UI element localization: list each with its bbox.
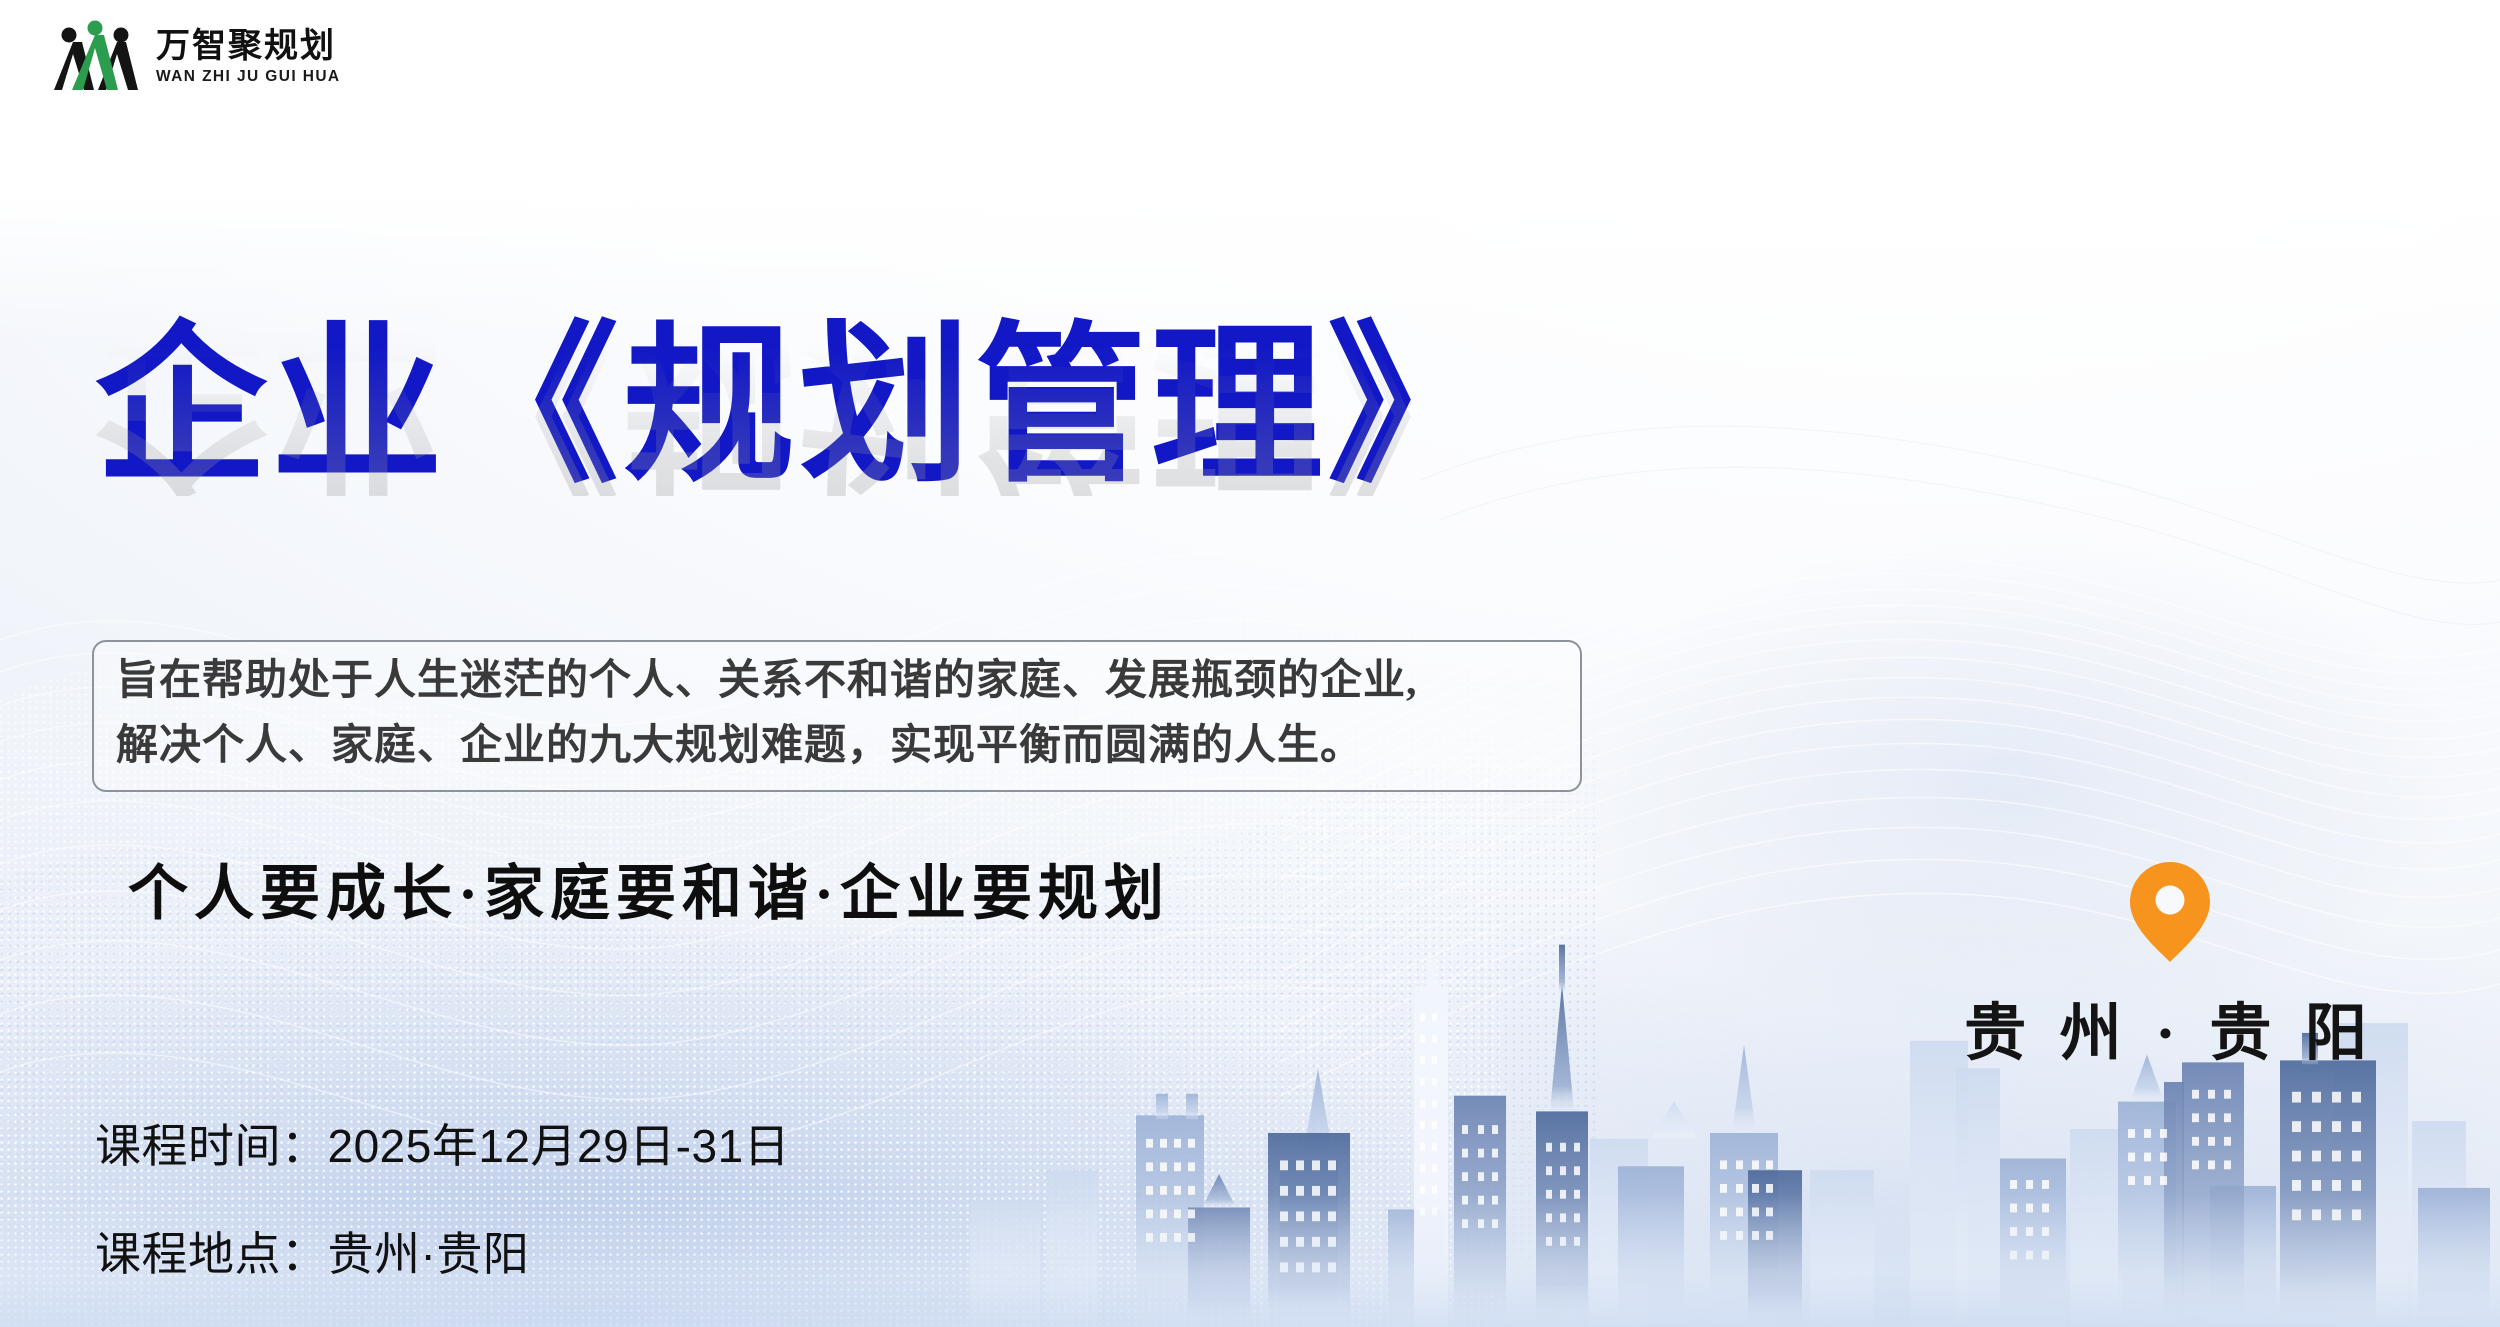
three-people-logo-icon (52, 18, 138, 96)
description-box: 旨在帮助处于人生迷茫的个人、关系不和谐的家庭、发展瓶颈的企业, 解决个人、家庭、… (92, 640, 1582, 792)
brand-name-en: WAN ZHI JU GUI HUA (156, 68, 341, 86)
brand-name-cn: 万智聚规划 (156, 28, 341, 65)
map-pin-icon (2126, 860, 2214, 964)
location-badge: 贵 州 · 贵 阳 (1960, 860, 2380, 1072)
hero-title-block: 企业《规划管理》 企业《规划管理》 (95, 320, 1595, 600)
course-place-row: 课程地点：贵州·贵阳 (95, 1218, 790, 1284)
course-info-block: 课程时间：2025年12月29日-31日 课程地点：贵州·贵阳 (95, 1110, 790, 1284)
brand-logo: 万智聚规划 WAN ZHI JU GUI HUA (52, 18, 341, 96)
course-time-row: 课程时间：2025年12月29日-31日 (95, 1110, 790, 1176)
page-title-reflection: 企业《规划管理》 (95, 324, 1595, 496)
location-name: 贵 州 · 贵 阳 (1960, 982, 2380, 1072)
description-line-2: 解决个人、家庭、企业的九大规划难题，实现平衡而圆满的人生。 (116, 714, 1558, 779)
slogan-text: 个人要成长·家庭要和谐·企业要规划 (128, 845, 1170, 932)
poster-canvas: 万智聚规划 WAN ZHI JU GUI HUA 企业《规划管理》 企业《规划管… (0, 0, 2500, 1327)
description-line-1: 旨在帮助处于人生迷茫的个人、关系不和谐的家庭、发展瓶颈的企业, (116, 649, 1558, 714)
